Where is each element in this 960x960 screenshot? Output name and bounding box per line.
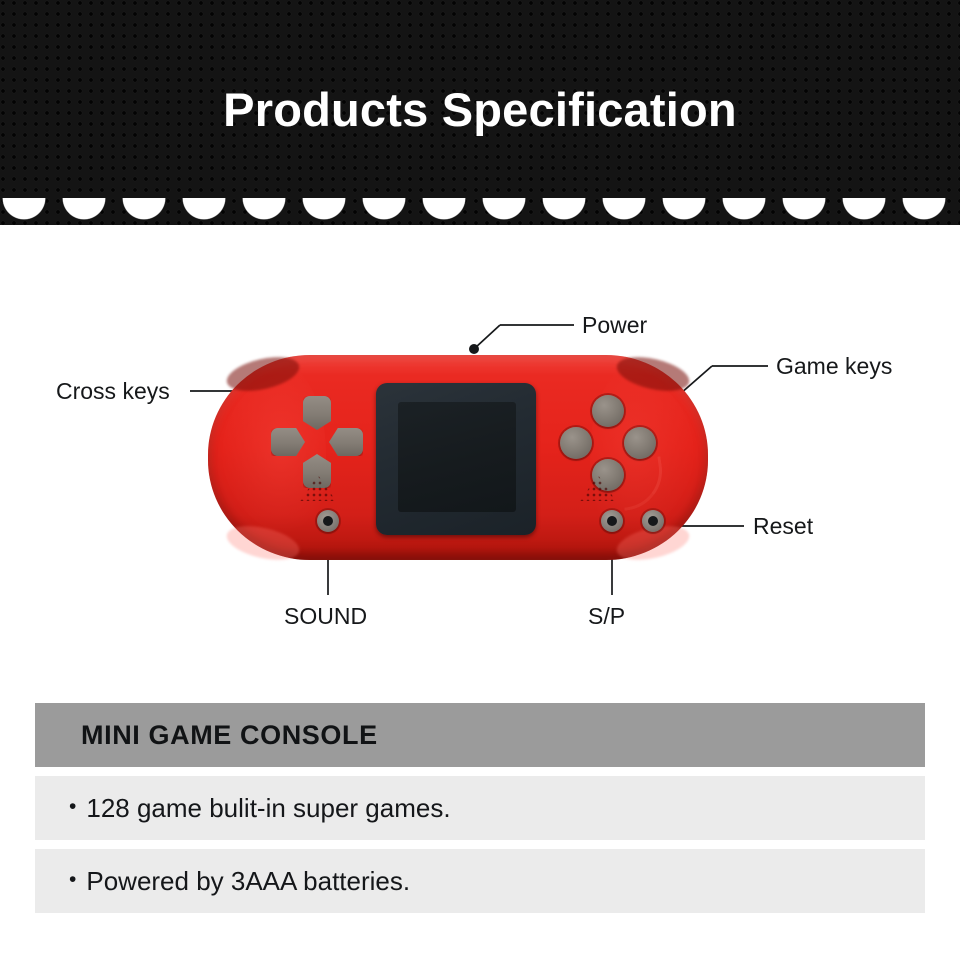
product-diagram: Power Game keys Cross keys Reset SOUND S… [0, 243, 960, 693]
spec-row-text: 128 game bulit-in super games. [86, 793, 450, 824]
console-screen-bezel [376, 383, 536, 535]
specification-table: MINI GAME CONSOLE • 128 game bulit-in su… [35, 703, 925, 913]
callout-label-game-keys: Game keys [776, 353, 892, 379]
sound-button [317, 510, 339, 532]
game-console-image [208, 355, 708, 560]
bullet-icon: • [69, 796, 76, 817]
spec-row-text: Powered by 3AAA batteries. [86, 866, 410, 897]
reset-button [642, 510, 664, 532]
console-screen-display [398, 402, 516, 512]
leader-line-power [469, 325, 574, 354]
callout-label-cross-keys: Cross keys [56, 378, 170, 404]
cross-keys-dpad [271, 396, 363, 488]
dpad-left-key [271, 428, 305, 456]
bullet-icon: • [69, 869, 76, 890]
game-key-top [592, 395, 624, 427]
callout-label-power: Power [582, 312, 647, 338]
header-banner: Products Specification [0, 0, 960, 243]
spec-table-row: • 128 game bulit-in super games. [35, 776, 925, 840]
game-keys-cluster [560, 395, 656, 491]
spec-table-header-text: MINI GAME CONSOLE [81, 720, 378, 751]
spec-table-header-row: MINI GAME CONSOLE [35, 703, 925, 767]
dpad-up-key [303, 396, 331, 430]
header-scallop-fill [0, 226, 960, 243]
game-key-right [624, 427, 656, 459]
dpad-right-key [329, 428, 363, 456]
page-title: Products Specification [0, 82, 960, 138]
callout-label-sound: SOUND [284, 603, 367, 629]
game-key-left [560, 427, 592, 459]
spec-table-row: • Powered by 3AAA batteries. [35, 849, 925, 913]
sp-button [601, 510, 623, 532]
callout-label-reset: Reset [753, 513, 813, 539]
callout-label-sp: S/P [588, 603, 625, 629]
